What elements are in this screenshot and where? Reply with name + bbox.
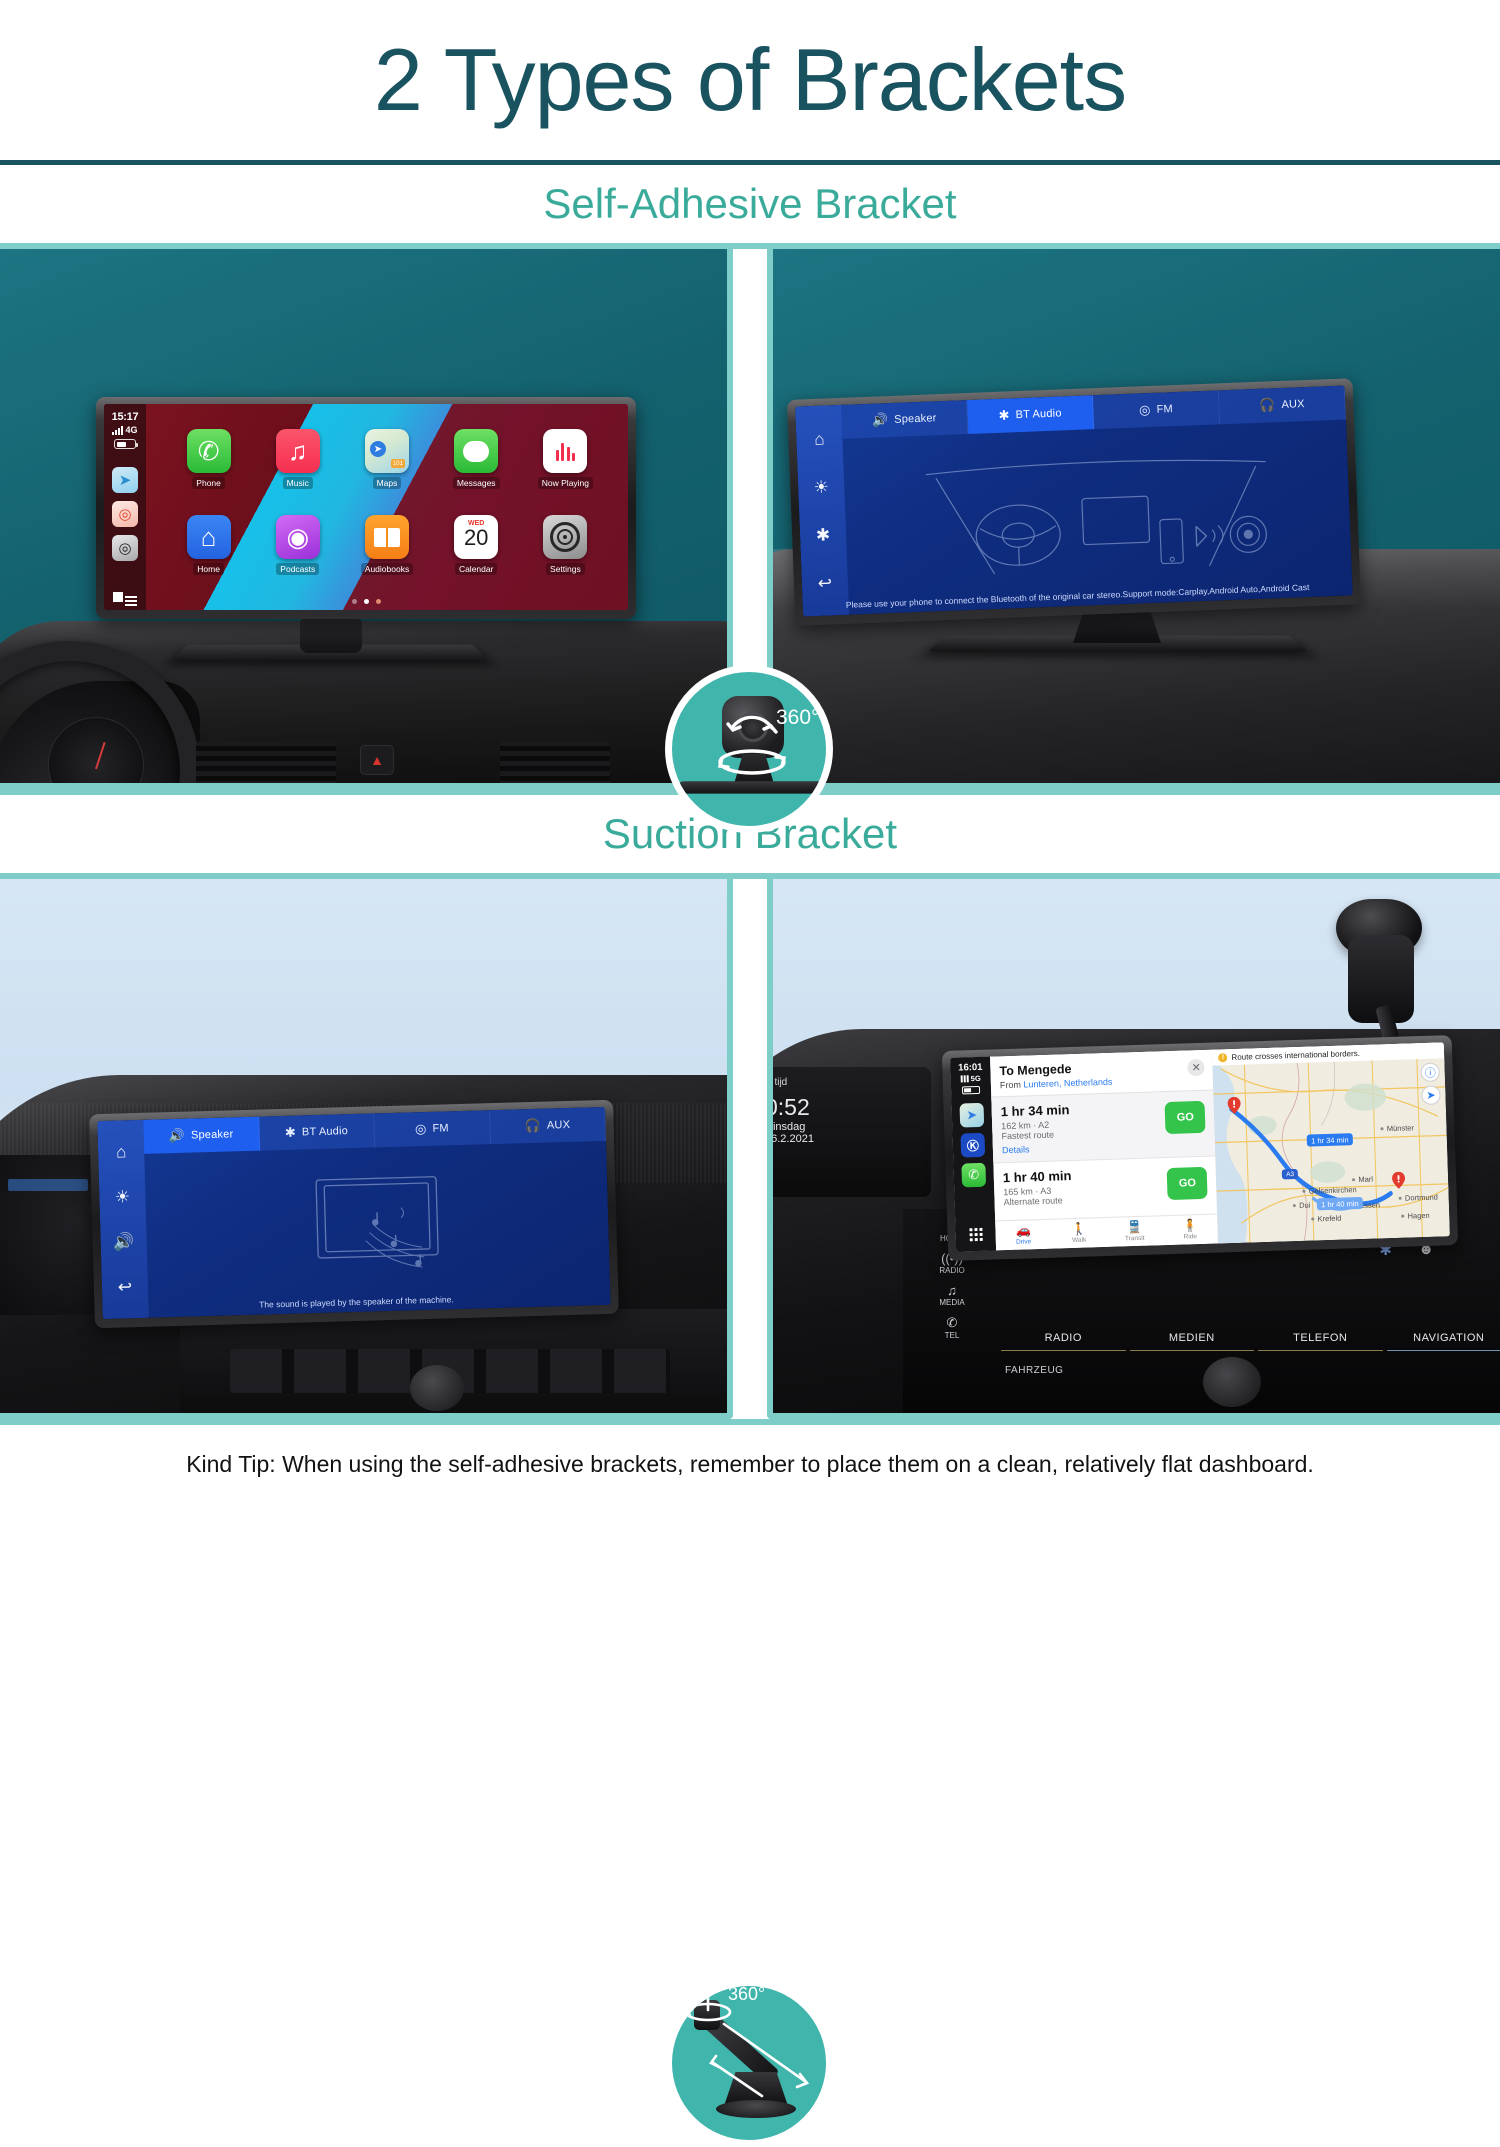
walk-icon: 🚶: [1071, 1222, 1086, 1236]
spiral-icon[interactable]: ◎: [112, 535, 138, 561]
radio-icon: ◎: [1139, 402, 1151, 418]
home-icon[interactable]: ⌂: [116, 1143, 127, 1160]
tile-fahrzeug[interactable]: FAHRZEUG: [1005, 1365, 1063, 1376]
app-label: Settings: [546, 563, 585, 575]
head-unit-device-speaker: ⌂ ☀ 🔊 ↩ 🔊 Speaker ✱: [89, 1100, 619, 1329]
dutch-cluster-display: & tijd 0:52 Dinsdag 16.2.2021: [767, 1067, 931, 1197]
route-option-2[interactable]: 1 hr 40 min 165 km · A3 Alternate route …: [993, 1156, 1217, 1215]
side-rail: ⌂ ☀ 🔊 ↩: [97, 1120, 149, 1319]
music-note-icon: ♫: [919, 1283, 985, 1298]
travel-mode-tabs: 🚗 Drive 🚶 Walk 🚆 Transit: [995, 1213, 1218, 1250]
headphone-icon: 🎧: [524, 1118, 541, 1134]
map-label-gelsenkirchen: Gelsenkirchen: [1309, 1185, 1357, 1196]
bluetooth-icon: ✱: [998, 407, 1010, 423]
maps-icon: ➤ 101: [365, 429, 409, 473]
carplay-home-screen: 15:17 4G ➤ ◎ ◎: [104, 404, 628, 610]
app-label: Music: [283, 477, 313, 489]
bluetooth-icon[interactable]: ✱: [816, 526, 831, 544]
warning-icon: !: [1218, 1053, 1227, 1062]
app-maps[interactable]: ➤ 101 Maps: [365, 429, 409, 489]
badge-360-label: 360°: [728, 1984, 765, 2005]
carplay-sidebar: 15:17 4G ➤ ◎ ◎: [104, 404, 146, 610]
book-icon: [365, 515, 409, 559]
back-icon[interactable]: ↩: [817, 574, 832, 592]
brightness-icon[interactable]: ☀: [813, 478, 829, 496]
route-pill-alt: 1 hr 40 min: [1317, 1197, 1363, 1210]
carplay-signal: 4G: [112, 425, 137, 435]
brightness-icon[interactable]: ☀: [115, 1188, 131, 1205]
app-audiobooks[interactable]: Audiobooks: [361, 515, 413, 575]
tab-label: Speaker: [894, 412, 937, 426]
phone-icon[interactable]: ✆: [961, 1163, 986, 1188]
go-button[interactable]: GO: [1165, 1101, 1206, 1134]
locate-icon[interactable]: ➤: [1421, 1085, 1441, 1105]
app-messages[interactable]: Messages: [453, 429, 500, 489]
car-icon: 🚗: [1016, 1223, 1031, 1237]
map-label-munster: Münster: [1387, 1123, 1414, 1133]
app-grid-icon[interactable]: [969, 1228, 982, 1241]
app-label: Home: [193, 563, 224, 575]
calendar-icon: WED 20: [454, 515, 498, 559]
console-knob[interactable]: [1203, 1357, 1261, 1407]
cluster-label: & tijd: [767, 1077, 931, 1088]
panel-row-adhesive: ▲ 15:17 4G ➤: [0, 249, 1500, 789]
app-now-playing[interactable]: Now Playing: [538, 429, 593, 489]
device-screen: 15:17 4G ➤ ◎ ◎: [104, 404, 628, 610]
carplay-dock-icons: ➤ Ⓚ ✆: [959, 1103, 986, 1188]
btn-tel[interactable]: ✆TEL: [919, 1315, 985, 1340]
tab-label: FM: [432, 1122, 449, 1134]
road-shield: A3: [1282, 1169, 1298, 1179]
tab-label: AUX: [1281, 398, 1305, 411]
panel-adhesive-carplay: ▲ 15:17 4G ➤: [0, 249, 733, 789]
now-playing-icon: [543, 429, 587, 473]
route-panel: To Mengede From Lunteren, Netherlands ✕ …: [990, 1050, 1218, 1251]
route-pill-fastest: 1 hr 34 min: [1307, 1133, 1353, 1146]
carplay-clock: 15:17: [112, 411, 139, 423]
section-heading-adhesive: Self-Adhesive Bracket: [0, 165, 1500, 243]
podcast-icon: ◉: [276, 515, 320, 559]
info-icon[interactable]: ⓘ: [1420, 1062, 1440, 1082]
phone-icon: ✆: [919, 1315, 985, 1331]
ride-icon: 🧍: [1182, 1218, 1197, 1232]
network-label: 4G: [125, 425, 137, 435]
carplay-clock: 16:01: [958, 1062, 983, 1074]
route-details-link[interactable]: Details: [1002, 1139, 1207, 1155]
bt-main-area: 🔊 Speaker ✱ BT Audio ◎ FM: [841, 386, 1353, 615]
mode-label: Drive: [1016, 1238, 1031, 1245]
music-note-icon: ♫: [276, 429, 320, 473]
app-label: Podcasts: [276, 563, 319, 575]
adhesive-bracket-stem: [300, 619, 362, 653]
map-label-krefeld: Krefeld: [1317, 1214, 1341, 1224]
map-label-marl: Marl: [1358, 1175, 1373, 1184]
app-music[interactable]: ♫ Music: [276, 429, 320, 489]
tab-label: AUX: [547, 1119, 571, 1132]
home-icon: ⌂: [187, 515, 231, 559]
tab-label: BT Audio: [302, 1125, 348, 1138]
speaker-icon: 🔊: [872, 412, 889, 429]
map-view[interactable]: ! Route crosses international borders.: [1212, 1042, 1450, 1243]
badge-360-adhesive: 360°: [665, 665, 833, 833]
device-screen: ⌂ ☀ ✱ ↩ 🔊 Speaker ✱: [795, 386, 1353, 617]
mode-label: Transit: [1125, 1235, 1145, 1243]
go-button[interactable]: GO: [1167, 1167, 1208, 1200]
btn-media[interactable]: ♫MEDIA: [919, 1283, 985, 1307]
bluetooth-icon: ✱: [285, 1125, 297, 1141]
headphone-icon: 🎧: [1259, 397, 1276, 414]
mode-label: Walk: [1072, 1237, 1086, 1244]
route-option-1[interactable]: 1 hr 34 min 162 km · A2 Fastest route De…: [991, 1090, 1215, 1163]
route-header: To Mengede From Lunteren, Netherlands ✕: [990, 1050, 1213, 1097]
device-screen: 16:01 5G ➤ Ⓚ ✆: [950, 1042, 1450, 1251]
head-unit-device-btaudio: ⌂ ☀ ✱ ↩ 🔊 Speaker ✱: [787, 378, 1361, 626]
signal-bars-icon: [112, 426, 123, 435]
map-controls: ⓘ ➤: [1420, 1062, 1440, 1105]
tilt-arrows-icon: [702, 2008, 822, 2118]
settings-icon: [543, 515, 587, 559]
tile-navigation[interactable]: NAVIGATION: [1387, 1231, 1500, 1351]
head-unit-device-navigation: 16:01 5G ➤ Ⓚ ✆: [942, 1035, 1458, 1261]
app-settings[interactable]: Settings: [543, 515, 587, 575]
air-vent-left: [196, 741, 336, 789]
map-banner-text: Route crosses international borders.: [1231, 1048, 1360, 1061]
app-podcasts[interactable]: ◉ Podcasts: [276, 515, 320, 575]
badge-360-suction: 360°: [665, 1979, 833, 2147]
app-phone[interactable]: ✆ Phone: [187, 429, 231, 489]
tab-aux[interactable]: 🎧 AUX: [1219, 386, 1346, 425]
target-icon[interactable]: ◎: [112, 501, 138, 527]
tab-fm[interactable]: ◎ FM: [374, 1110, 490, 1147]
map-label-dortmund: Dortmund: [1405, 1193, 1438, 1203]
mode-label: Ride: [1184, 1233, 1198, 1240]
panel-suction-speaker: ⌂ ☀ 🔊 ↩ 🔊 Speaker ✱: [0, 879, 733, 1419]
tab-speaker[interactable]: 🔊 Speaker: [841, 400, 968, 439]
app-label: Now Playing: [538, 477, 593, 489]
app-home[interactable]: ⌂ Home: [187, 515, 231, 575]
tab-label: Speaker: [191, 1128, 234, 1141]
carplay-dock-icons: ➤ ◎ ◎: [112, 467, 138, 561]
calendar-day: 20: [464, 527, 488, 549]
mode-transit[interactable]: 🚆 Transit: [1106, 1219, 1162, 1243]
speaker-screen: ⌂ ☀ 🔊 ↩ 🔊 Speaker ✱: [97, 1107, 610, 1319]
carplay-sidebar: 16:01 5G ➤ Ⓚ ✆: [950, 1057, 996, 1252]
speaker-icon: 🔊: [168, 1128, 185, 1144]
car-pairing-illustration: [905, 445, 1290, 589]
head-unit-device-carplay: 15:17 4G ➤ ◎ ◎: [96, 397, 636, 619]
cluster-readout: [8, 1179, 88, 1191]
signal-bars-icon: [961, 1075, 969, 1082]
console-knob[interactable]: [410, 1365, 464, 1411]
origin-label: Lunteren, Netherlands: [1023, 1077, 1112, 1090]
message-bubble-icon: [454, 429, 498, 473]
air-vent-right: [500, 741, 610, 789]
battery-icon: [962, 1086, 980, 1095]
panel-adhesive-btaudio: ⌂ ☀ ✱ ↩ 🔊 Speaker ✱: [767, 249, 1500, 789]
mode-ride[interactable]: 🧍 Ride: [1162, 1217, 1218, 1241]
carplay-app-grid: ✆ Phone ♫ Music ➤ 101 Maps: [146, 404, 628, 610]
device-screen: ⌂ ☀ 🔊 ↩ 🔊 Speaker ✱: [97, 1107, 610, 1319]
side-rail: ⌂ ☀ ✱ ↩: [795, 405, 849, 617]
tab-fm[interactable]: ◎ FM: [1093, 390, 1220, 429]
karwei-k-icon[interactable]: Ⓚ: [960, 1133, 985, 1158]
radio-icon: ◎: [415, 1121, 427, 1137]
cluster-weekday: Dinsdag: [767, 1121, 931, 1133]
home-icon[interactable]: ⌂: [814, 430, 825, 447]
speaker-icon[interactable]: 🔊: [113, 1233, 135, 1251]
map-pin-destination: [1392, 1172, 1406, 1189]
tab-bt-audio[interactable]: ✱ BT Audio: [967, 395, 1094, 434]
speaker-main-area: 🔊 Speaker ✱ BT Audio ◎ FM: [143, 1107, 610, 1318]
back-icon[interactable]: ↩: [118, 1278, 133, 1295]
hazard-button[interactable]: ▲: [360, 745, 394, 775]
battery-icon: [114, 439, 136, 449]
map-pin-origin: [1228, 1097, 1242, 1114]
bt-audio-screen: ⌂ ☀ ✱ ↩ 🔊 Speaker ✱: [795, 386, 1353, 617]
app-calendar[interactable]: WED 20 Calendar: [454, 515, 498, 575]
device-speaker-illustration: [276, 1168, 479, 1292]
panel-row-suction: ⌂ ☀ 🔊 ↩ 🔊 Speaker ✱: [0, 879, 1500, 1419]
cluster-time: 0:52: [767, 1094, 931, 1121]
page-title: 2 Types of Brackets: [0, 0, 1500, 160]
app-label: Phone: [192, 477, 225, 489]
carplay-page-dots[interactable]: [104, 599, 628, 604]
map-label-hagen: Hagen: [1407, 1211, 1429, 1221]
cluster-date: 16.2.2021: [767, 1133, 931, 1145]
app-label: Audiobooks: [361, 563, 413, 575]
badge-360-label: 360°: [776, 706, 819, 730]
navigation-screen: 16:01 5G ➤ Ⓚ ✆: [950, 1042, 1450, 1251]
telegram-icon[interactable]: ➤: [112, 467, 138, 493]
mode-drive[interactable]: 🚗 Drive: [995, 1223, 1051, 1247]
footer-tip: Kind Tip: When using the self-adhesive b…: [0, 1425, 1500, 1503]
network-label: 5G: [971, 1074, 981, 1083]
train-icon: 🚆: [1127, 1220, 1142, 1234]
maps-icon[interactable]: ➤: [959, 1103, 984, 1128]
tab-speaker[interactable]: 🔊 Speaker: [143, 1117, 259, 1154]
phone-icon: ✆: [187, 429, 231, 473]
tab-label: FM: [1156, 403, 1173, 416]
from-prefix: From: [1000, 1080, 1024, 1091]
tab-label: BT Audio: [1015, 407, 1061, 421]
app-label: Messages: [453, 477, 500, 489]
mode-walk[interactable]: 🚶 Walk: [1051, 1221, 1107, 1245]
panel-suction-navigation: & tijd 0:52 Dinsdag 16.2.2021 ⌂HOME ((•)…: [767, 879, 1500, 1419]
tab-aux[interactable]: 🎧 AUX: [490, 1107, 606, 1144]
tab-bt-audio[interactable]: ✱ BT Audio: [259, 1113, 375, 1150]
app-label: Maps: [373, 477, 402, 489]
map-label-dui: Dui: [1299, 1201, 1311, 1210]
app-label: Calendar: [455, 563, 498, 575]
carplay-signal: 5G: [961, 1074, 981, 1084]
